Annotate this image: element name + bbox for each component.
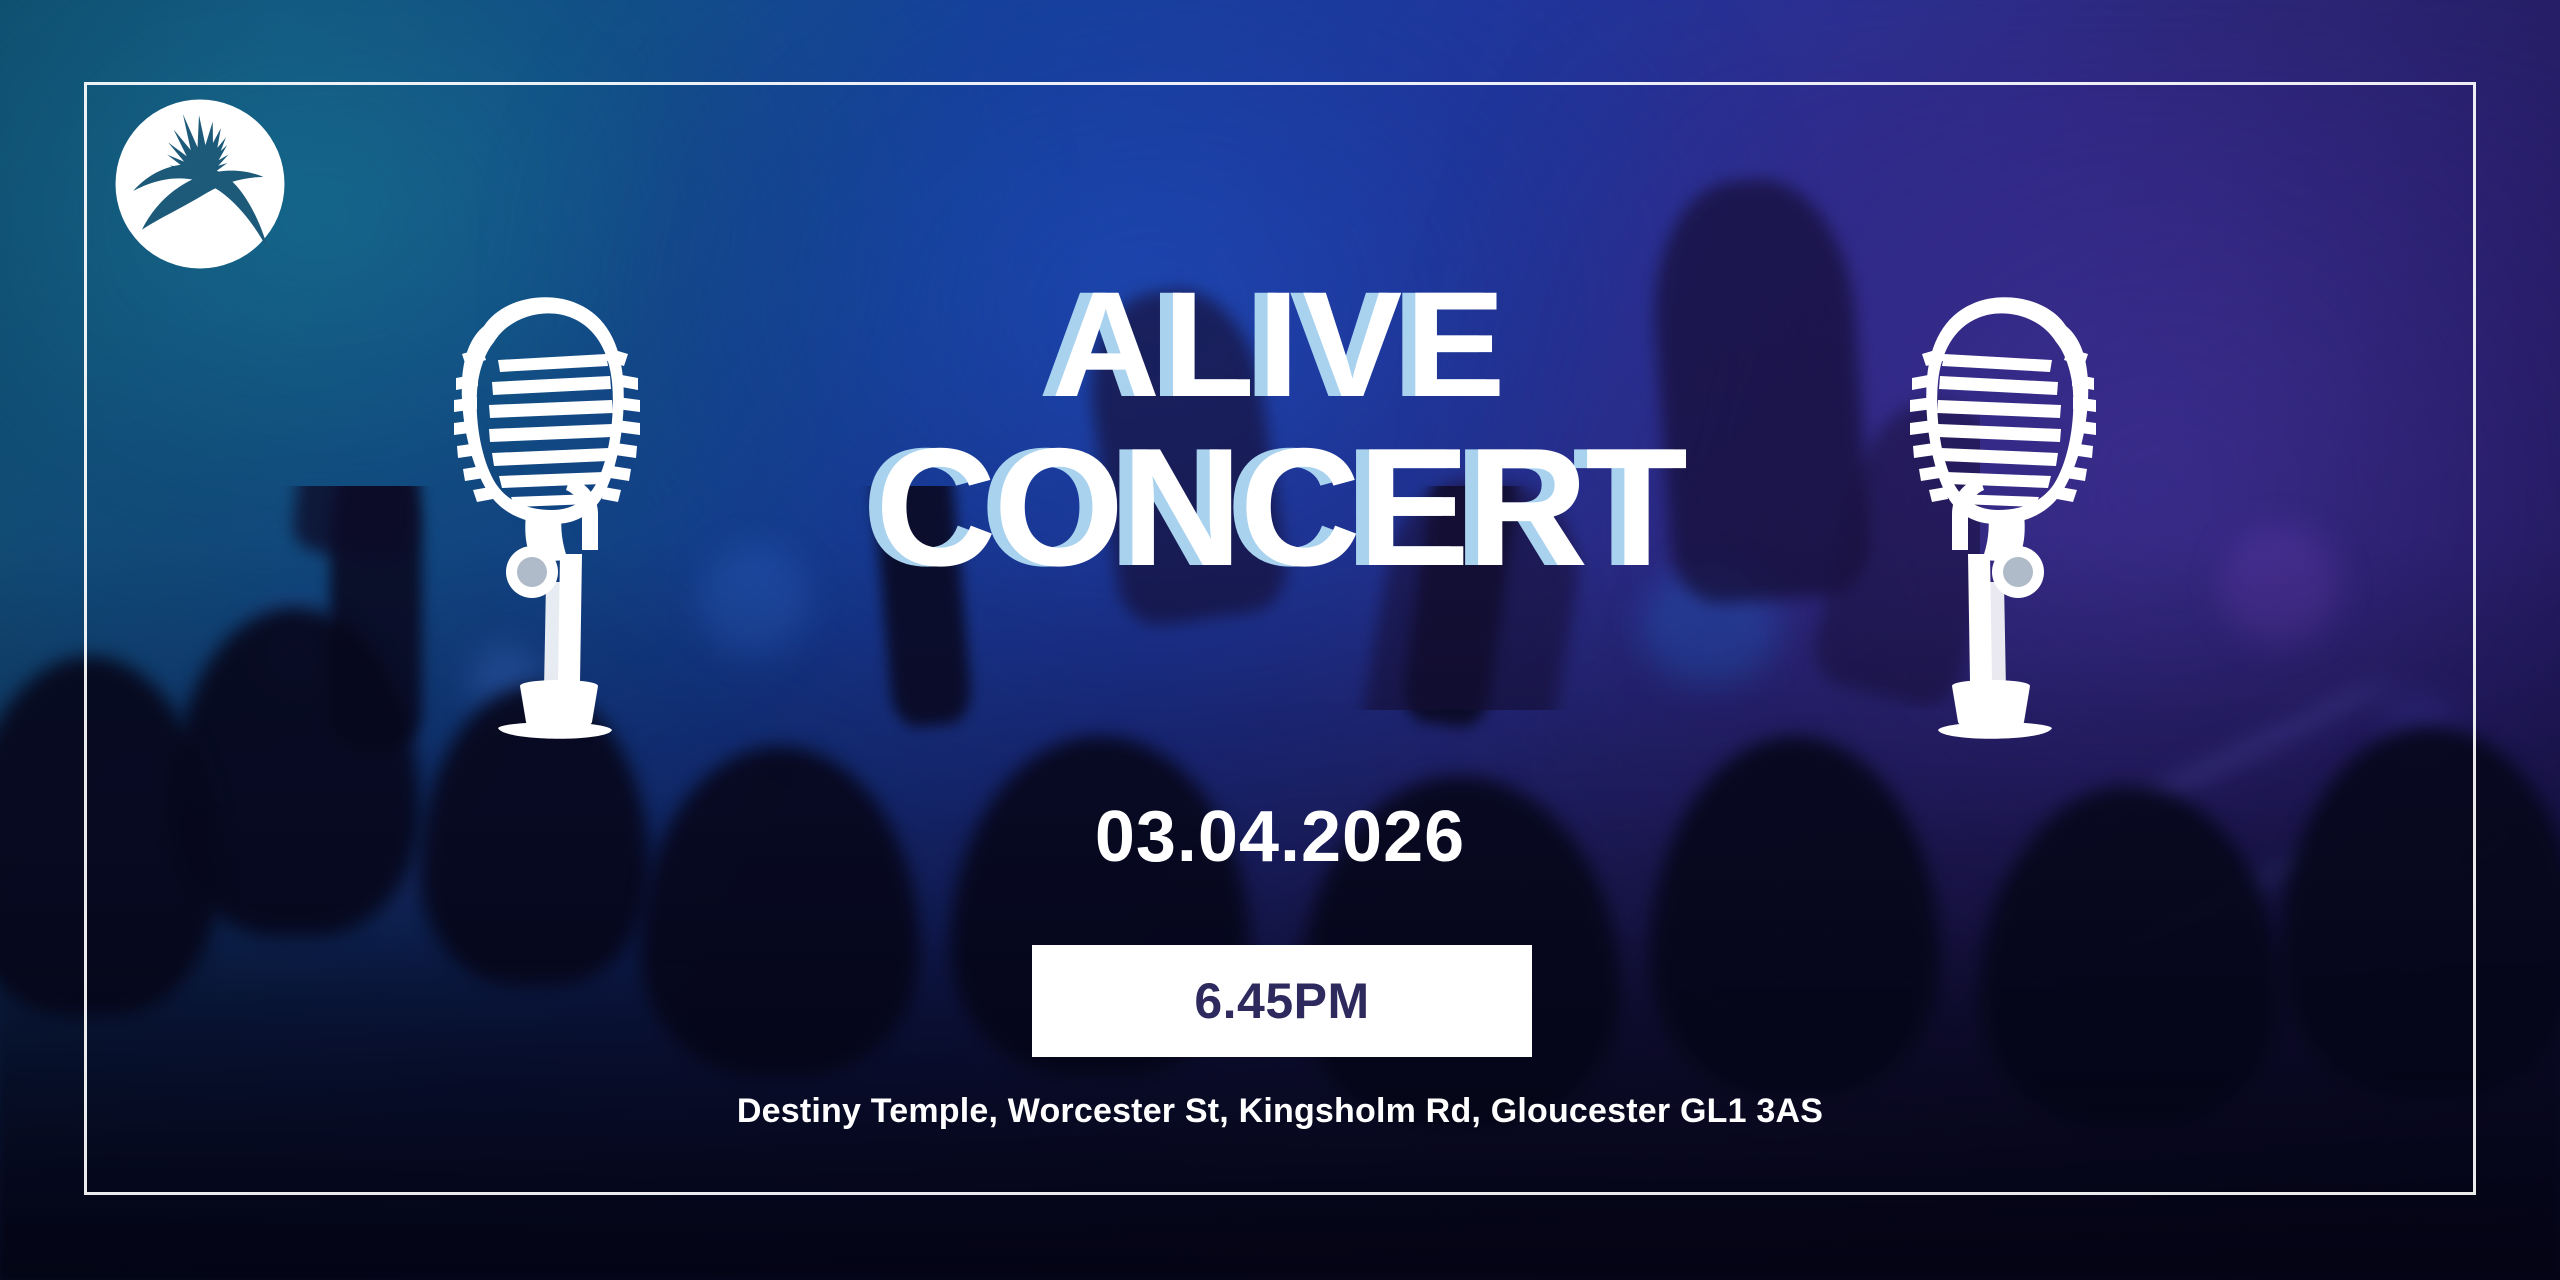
background-vignette: [0, 0, 2560, 1280]
church-sunrise-logo: [112, 96, 288, 272]
event-address: Destiny Temple, Worcester St, Kingsholm …: [0, 1092, 2560, 1131]
concert-poster: ALIVE CONCERT 03.04.2026 6.45PM Destiny …: [0, 0, 2560, 1280]
event-time-text: 6.45PM: [1194, 972, 1369, 1030]
title-line-concert: CONCERT: [0, 426, 2560, 589]
poster-title: ALIVE CONCERT: [0, 272, 2560, 588]
event-date: 03.04.2026: [0, 796, 2560, 878]
title-line-alive: ALIVE: [0, 272, 2560, 418]
event-time-badge: 6.45PM: [1032, 945, 1532, 1057]
